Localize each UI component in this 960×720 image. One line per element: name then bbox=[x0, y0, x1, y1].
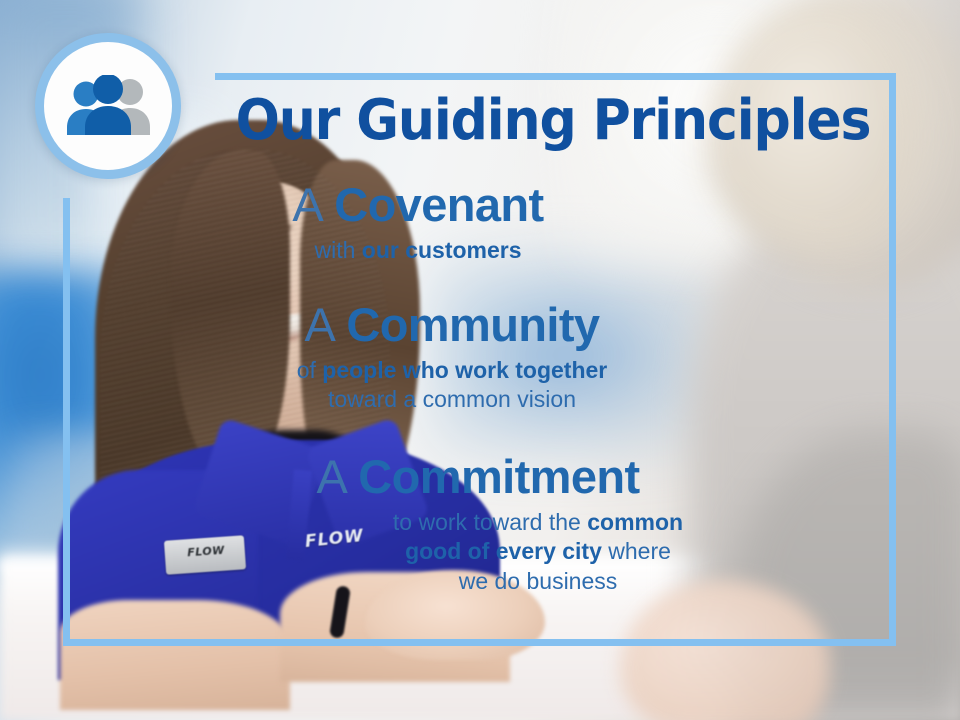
principle-commitment-article: A bbox=[316, 450, 345, 503]
principle-community-subtitle: of people who work together toward a com… bbox=[63, 356, 903, 415]
principle-commitment-sub-line-3: we do business bbox=[183, 567, 893, 596]
principle-commitment-subtitle: to work toward the common good of every … bbox=[63, 508, 903, 596]
principle-covenant-sub-plain: with bbox=[314, 237, 361, 263]
principle-commitment-sub-line-2: good of every city where bbox=[183, 537, 893, 566]
poster-canvas: FLOW FLOW Our Guiding Principles bbox=[0, 0, 960, 720]
principle-community-sub-line-1: of people who work together bbox=[63, 356, 841, 385]
poster-content: Our Guiding Principles A Covenant with o… bbox=[63, 73, 903, 648]
principle-commitment-sub-plain-2: where bbox=[602, 538, 671, 564]
principle-commitment-sub-bold-1: common bbox=[587, 509, 683, 535]
principle-commitment-sub-plain-1: to work toward the bbox=[393, 509, 587, 535]
principle-commitment-heading: A Commitment bbox=[63, 453, 903, 501]
principle-community-sub-bold: people who work together bbox=[322, 357, 607, 383]
principle-covenant-heading: A Covenant bbox=[63, 181, 903, 229]
principle-covenant-article: A bbox=[292, 178, 321, 231]
principle-covenant-subtitle: with our customers bbox=[63, 236, 903, 265]
principle-community-keyword: Community bbox=[346, 298, 599, 351]
principle-community: A Community of people who work together … bbox=[63, 301, 903, 415]
principle-covenant-sub-bold: our customers bbox=[362, 237, 522, 263]
page-title: Our Guiding Principles bbox=[228, 93, 879, 149]
principle-commitment: A Commitment to work toward the common g… bbox=[63, 453, 903, 596]
principle-commitment-sub-line-1: to work toward the common bbox=[183, 508, 893, 537]
principle-community-heading: A Community bbox=[63, 301, 903, 349]
principle-community-article: A bbox=[305, 298, 334, 351]
principle-commitment-keyword: Commitment bbox=[358, 450, 639, 503]
principle-covenant-keyword: Covenant bbox=[334, 178, 543, 231]
principle-community-sub-plain: of bbox=[297, 357, 323, 383]
principle-covenant: A Covenant with our customers bbox=[63, 181, 903, 265]
principle-community-sub-line-2: toward a common vision bbox=[63, 385, 841, 414]
principle-commitment-sub-bold-2: good of every city bbox=[405, 538, 602, 564]
